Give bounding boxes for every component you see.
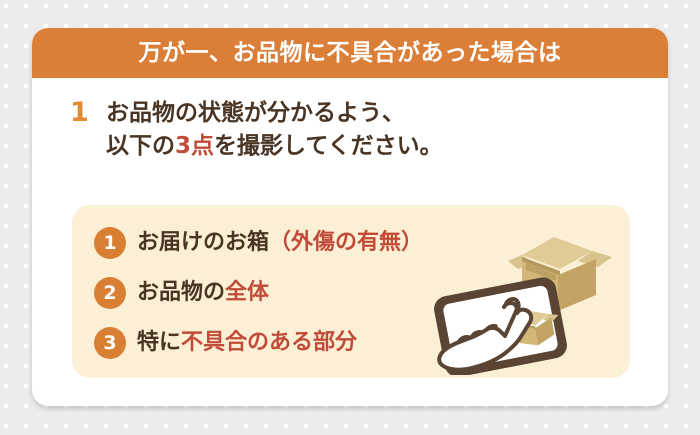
step-line-2-suffix: を撮影してください。 <box>214 133 443 159</box>
checklist-panel: 1 お届けのお箱（外傷の有無） 2 お品物の全体 3 特に不具合のある部分 <box>72 205 630 378</box>
list-item: 3 特に不具合のある部分 <box>94 318 423 368</box>
step-line-2-prefix: 以下の <box>106 133 175 159</box>
checklist-badge-2: 2 <box>94 277 126 309</box>
checklist-text-3-plain: 特に <box>137 330 181 355</box>
photo-instruction-illustration <box>426 215 626 375</box>
checklist-badge-3: 3 <box>94 327 126 359</box>
checklist-text-3: 特に不具合のある部分 <box>137 332 357 354</box>
list-item: 1 お届けのお箱（外傷の有無） <box>94 218 423 268</box>
step-text: お品物の状態が分かるよう、 以下の3点を撮影してください。 <box>106 97 443 162</box>
step-line-1: お品物の状態が分かるよう、 <box>106 97 443 130</box>
card-header: 万が一、お品物に不具合があった場合は <box>32 28 668 78</box>
step-number: 1 <box>70 97 106 129</box>
step-line-2: 以下の3点を撮影してください。 <box>106 130 443 163</box>
checklist-badge-1: 1 <box>94 227 126 259</box>
step-line-2-accent: 3点 <box>175 133 214 159</box>
checklist-text-2-plain: お品物の <box>137 280 225 305</box>
checklist-text-1-accent: （外傷の有無） <box>269 230 423 255</box>
checklist-text-1-plain: お届けのお箱 <box>137 230 269 255</box>
checklist-text-1: お届けのお箱（外傷の有無） <box>137 232 423 254</box>
list-item: 2 お品物の全体 <box>94 268 423 318</box>
notice-card: 万が一、お品物に不具合があった場合は 1 お品物の状態が分かるよう、 以下の3点… <box>32 28 668 406</box>
checklist-text-2: お品物の全体 <box>137 282 269 304</box>
checklist-text-3-accent: 不具合のある部分 <box>181 330 357 355</box>
step-1-block: 1 お品物の状態が分かるよう、 以下の3点を撮影してください。 <box>32 78 668 162</box>
checklist: 1 お届けのお箱（外傷の有無） 2 お品物の全体 3 特に不具合のある部分 <box>94 218 423 368</box>
checklist-text-2-accent: 全体 <box>225 280 269 305</box>
page-background: 万が一、お品物に不具合があった場合は 1 お品物の状態が分かるよう、 以下の3点… <box>0 0 700 435</box>
card-header-title: 万が一、お品物に不具合があった場合は <box>139 42 562 65</box>
